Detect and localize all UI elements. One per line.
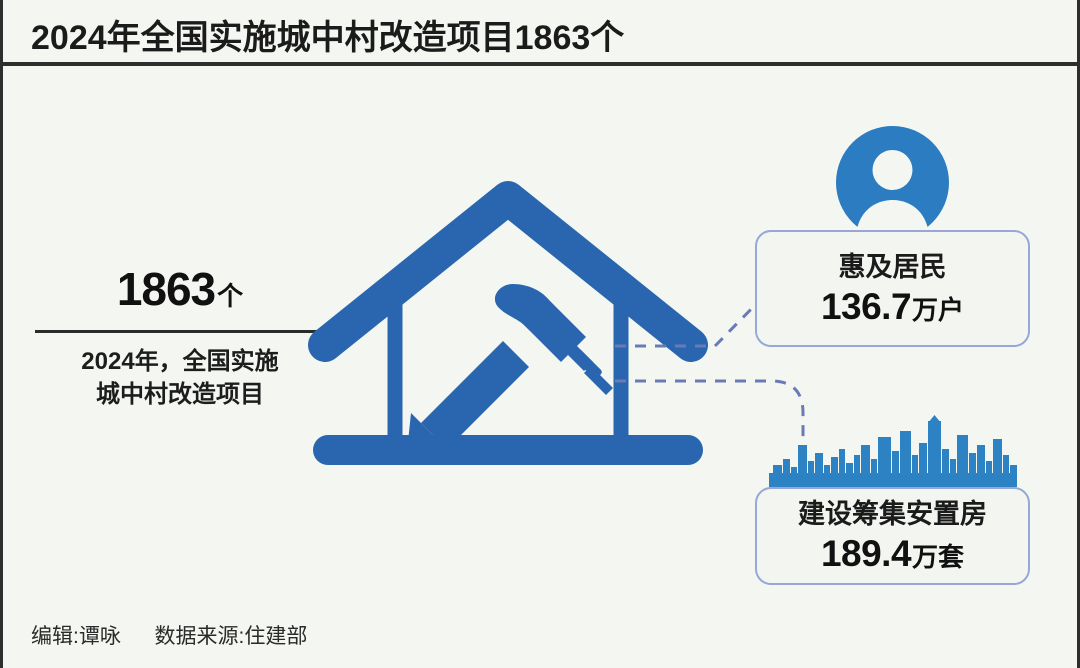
card-unit-housing: 万套 <box>912 537 964 574</box>
roof-chevron <box>325 198 691 345</box>
card-value-residents: 136.7 万户 <box>821 286 964 328</box>
left-stat-description-line2: 城中村改造项目 <box>35 378 325 411</box>
city-skyline-icon <box>769 415 1017 487</box>
left-stat-unit: 个 <box>217 276 243 313</box>
card-number-residents: 136.7 <box>821 286 911 328</box>
left-stat-block: 1863 个 2024年，全国实施 城中村改造项目 <box>35 262 325 411</box>
card-label-residents: 惠及居民 <box>839 250 947 284</box>
left-stat-description-line1: 2024年，全国实施 <box>35 345 325 378</box>
person-icon <box>836 126 949 239</box>
footer-source: 数据来源:住建部 <box>155 625 308 648</box>
header-divider <box>3 62 1077 66</box>
card-label-housing: 建设筹集安置房 <box>798 497 987 531</box>
left-stat-number: 1863 <box>117 262 215 316</box>
card-number-housing: 189.4 <box>821 533 911 575</box>
hammer-icon <box>408 284 613 452</box>
footer-editor: 编辑:谭咏 <box>31 625 121 648</box>
ground-bar <box>313 435 703 465</box>
left-stat-value: 1863 个 <box>35 262 325 316</box>
stat-card-residents: 惠及居民 136.7 万户 <box>755 230 1030 347</box>
card-value-housing: 189.4 万套 <box>821 533 964 575</box>
footer: 编辑:谭咏 数据来源:住建部 <box>31 620 307 650</box>
stat-card-housing: 建设筹集安置房 189.4 万套 <box>755 487 1030 585</box>
house-renovation-icon <box>303 180 713 470</box>
left-stat-divider <box>35 330 325 333</box>
infographic-page: 2024年全国实施城中村改造项目1863个 1863 个 2024年，全国实施 … <box>0 0 1080 668</box>
header: 2024年全国实施城中村改造项目1863个 <box>3 0 1077 64</box>
page-title: 2024年全国实施城中村改造项目1863个 <box>31 10 624 59</box>
card-unit-residents: 万户 <box>912 290 964 327</box>
